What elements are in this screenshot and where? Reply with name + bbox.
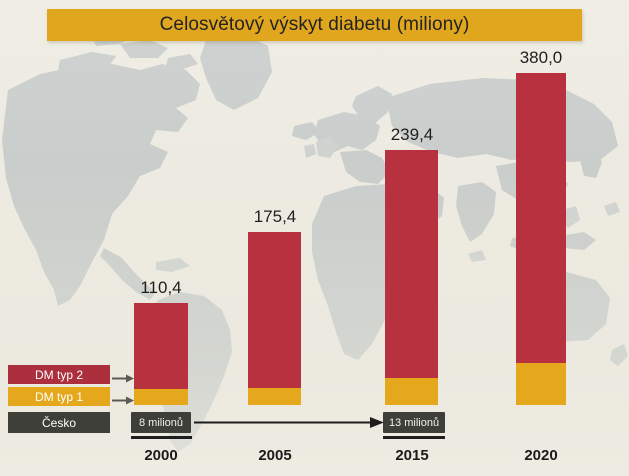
bar-2000 <box>134 303 188 405</box>
bar-2020-value-label: 380,0 <box>504 48 578 68</box>
bar-2005-year-label: 2005 <box>238 447 312 464</box>
legend-item-cesko-label: Česko <box>42 416 76 430</box>
chart-title: Celosvětový výskyt diabetu (miliony) <box>160 14 470 36</box>
bar-2000-value-label: 110,4 <box>124 278 198 298</box>
legend-item-cesko: Česko <box>8 412 110 433</box>
legend-arrow-type2-icon <box>112 370 134 379</box>
baseline-2000 <box>131 436 192 439</box>
legend-item-dm-typ-2: DM typ 2 <box>8 365 110 384</box>
bar-2015-segment-type2 <box>385 150 438 378</box>
bar-2005-value-label: 175,4 <box>238 207 312 227</box>
callout-cesko-2015: 13 milionů <box>383 412 445 433</box>
chart-title-bar: Celosvětový výskyt diabetu (miliony) <box>47 9 582 41</box>
bar-2000-segment-type1 <box>134 389 188 405</box>
legend-item-dm-typ-1-label: DM typ 1 <box>35 390 83 404</box>
legend-item-dm-typ-1: DM typ 1 <box>8 387 110 406</box>
bar-2015-year-label: 2015 <box>375 447 449 464</box>
bar-2000-segment-type2 <box>134 303 188 389</box>
callout-cesko-2015-label: 13 milionů <box>389 417 439 429</box>
callout-connector-arrow-icon <box>194 415 384 430</box>
bar-2005 <box>248 232 301 405</box>
bar-2020-segment-type2 <box>516 73 566 363</box>
bar-2005-segment-type1 <box>248 388 301 405</box>
legend-item-dm-typ-2-label: DM typ 2 <box>35 368 83 382</box>
bar-2020 <box>516 73 566 405</box>
bar-2020-year-label: 2020 <box>504 447 578 464</box>
bar-2015-value-label: 239,4 <box>375 125 449 145</box>
callout-cesko-2000-label: 8 milionů <box>139 417 183 429</box>
callout-cesko-2000: 8 milionů <box>131 412 191 433</box>
bar-2005-segment-type2 <box>248 232 301 388</box>
infographic-canvas: Celosvětový výskyt diabetu (miliony) 110… <box>0 0 629 476</box>
bar-2000-year-label: 2000 <box>124 447 198 464</box>
bar-2020-segment-type1 <box>516 363 566 405</box>
baseline-2015 <box>383 436 445 439</box>
bar-2015 <box>385 150 438 405</box>
legend-arrow-type1-icon <box>112 392 134 401</box>
bar-2015-segment-type1 <box>385 378 438 405</box>
